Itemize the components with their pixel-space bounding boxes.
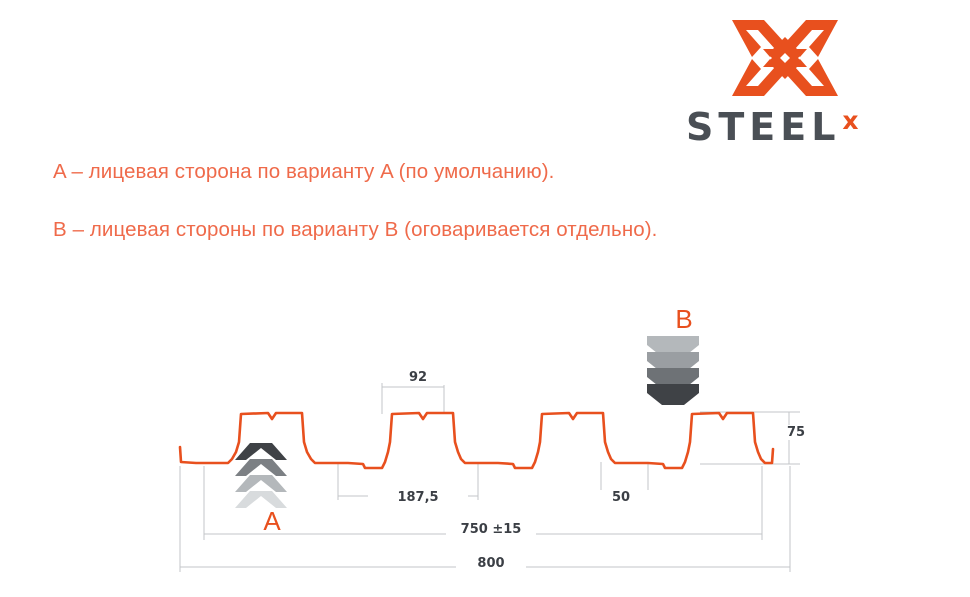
dimension-label-pitch: 187,5: [368, 490, 468, 505]
dimension-label-height: 75: [782, 425, 832, 440]
technical-drawing-page: STEEL x A – лицевая сторона по варианту …: [0, 0, 970, 597]
marker-b-label: B: [659, 304, 709, 335]
marker-a-label: A: [247, 506, 297, 537]
marker-a-chevrons-icon: [235, 443, 287, 508]
dimension-label-valley-width: 50: [592, 490, 650, 505]
profile-drawing: [0, 0, 970, 597]
dimension-label-useful-width: 750 ±15: [446, 522, 536, 537]
marker-b-chevrons-icon: [647, 336, 699, 405]
dimension-label-top-rib-width: 92: [385, 370, 451, 385]
dimension-label-overall-width: 800: [456, 556, 526, 571]
